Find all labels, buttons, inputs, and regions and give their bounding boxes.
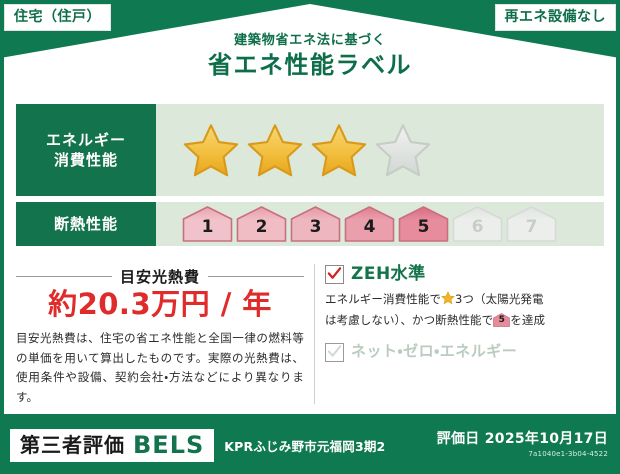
inline-house-icon: 5 xyxy=(493,313,510,327)
bels-badge: 第三者評価 BELS xyxy=(10,429,214,462)
inline-star-icon xyxy=(441,291,455,305)
energy-label-root: 住宅（住戸） 再エネ設備なし 建築物省エネ法に基づく 省エネ性能ラベル エネルギ… xyxy=(0,0,620,474)
net-zero-energy-label: ネット・ゼロ・エネルギー xyxy=(351,342,517,360)
property-name: KPRふじみ野市元福岡3期2 xyxy=(224,436,385,455)
star-filled-icon xyxy=(310,122,368,178)
cost-note: 目安光熱費は、住宅の省エネ性能と全国一律の燃料等の単価を用いて算出したものです。… xyxy=(16,329,304,408)
cost-value: 約20.3万円 / 年 xyxy=(16,289,304,321)
cost-heading: 目安光熱費 xyxy=(16,266,304,287)
title-subtitle: 建築物省エネ法に基づく xyxy=(0,34,620,48)
insulation-performance-row: 断熱性能 1234567 xyxy=(16,202,604,246)
performance-rows: エネルギー 消費性能 断熱性能 1234567 xyxy=(4,96,616,258)
star-empty-icon xyxy=(374,122,432,178)
building-type-tag: 住宅（住戸） xyxy=(4,4,111,31)
house-level-number: 3 xyxy=(310,219,322,243)
energy-performance-label: エネルギー 消費性能 xyxy=(16,104,156,196)
zeh-standard-row: ZEH水準 xyxy=(325,264,604,284)
check-icon xyxy=(327,266,342,281)
footer-bar: 第三者評価 BELS KPRふじみ野市元福岡3期2 評価日 2025年10月17… xyxy=(4,420,616,470)
house-level-number: 5 xyxy=(418,219,430,243)
cost-heading-text: 目安光熱費 xyxy=(120,266,200,287)
house-rating: 1234567 xyxy=(182,205,557,243)
insulation-performance-label-text: 断熱性能 xyxy=(54,214,118,234)
zeh-column: ZEH水準 エネルギー消費性能で3つ（太陽光発電は考慮しない）、かつ断熱性能で5… xyxy=(325,260,604,408)
house-level-number: 2 xyxy=(256,219,268,243)
zeh-standard-checkbox xyxy=(325,265,344,284)
check-icon-disabled xyxy=(327,344,342,359)
house-level-number: 7 xyxy=(526,219,538,243)
house-level-number: 4 xyxy=(364,219,376,243)
zeh-standard-label: ZEH水準 xyxy=(351,264,426,284)
house-level-filled-icon: 4 xyxy=(344,205,395,243)
evaluation-code: 7a1040e1-3b04-4522 xyxy=(437,450,608,458)
house-level-empty-icon: 6 xyxy=(452,205,503,243)
inline-house-number: 5 xyxy=(493,314,510,327)
bels-badge-jp: 第三者評価 xyxy=(20,435,125,455)
main-panel: エネルギー 消費性能 断熱性能 1234567 xyxy=(4,96,616,414)
house-level-filled-icon: 5 xyxy=(398,205,449,243)
zeh-desc-star-count: 3つ（太陽光発電 xyxy=(455,292,544,306)
net-zero-energy-checkbox xyxy=(325,343,344,362)
zeh-description: エネルギー消費性能で3つ（太陽光発電は考慮しない）、かつ断熱性能で5を達成 xyxy=(325,289,604,330)
zeh-desc-part1: エネルギー消費性能で xyxy=(325,292,441,306)
cost-heading-rule-left xyxy=(16,276,112,277)
house-level-filled-icon: 1 xyxy=(182,205,233,243)
insulation-performance-value: 1234567 xyxy=(156,202,604,246)
cost-column: 目安光熱費 約20.3万円 / 年 目安光熱費は、住宅の省エネ性能と全国一律の燃… xyxy=(16,260,312,408)
insulation-performance-label: 断熱性能 xyxy=(16,202,156,246)
lower-section: 目安光熱費 約20.3万円 / 年 目安光熱費は、住宅の省エネ性能と全国一律の燃… xyxy=(4,258,616,408)
evaluation-info: 評価日 2025年10月17日 7a1040e1-3b04-4522 xyxy=(437,432,608,457)
house-level-number: 6 xyxy=(472,219,484,243)
star-filled-icon xyxy=(182,122,240,178)
zeh-desc-part3: を達成 xyxy=(510,313,545,327)
star-filled-icon xyxy=(246,122,304,178)
column-divider xyxy=(314,264,315,404)
renewable-equipment-tag: 再エネ設備なし xyxy=(495,4,617,31)
evaluation-date: 評価日 2025年10月17日 xyxy=(437,432,608,447)
cost-heading-rule-right xyxy=(208,276,304,277)
energy-performance-label-line1: エネルギー xyxy=(46,130,126,150)
net-zero-energy-row: ネット・ゼロ・エネルギー xyxy=(325,342,604,362)
energy-performance-label-line2: 消費性能 xyxy=(54,150,118,170)
house-level-filled-icon: 2 xyxy=(236,205,287,243)
energy-performance-row: エネルギー 消費性能 xyxy=(16,104,604,196)
star-rating xyxy=(182,122,432,178)
page-title: 省エネ性能ラベル xyxy=(0,50,620,80)
house-level-filled-icon: 3 xyxy=(290,205,341,243)
energy-performance-value xyxy=(156,104,604,196)
bels-badge-en: BELS xyxy=(133,433,204,457)
house-level-empty-icon: 7 xyxy=(506,205,557,243)
zeh-desc-part2: は考慮しない）、かつ断熱性能で xyxy=(325,313,493,327)
label-title-block: 建築物省エネ法に基づく 省エネ性能ラベル xyxy=(0,34,620,80)
house-level-number: 1 xyxy=(202,219,214,243)
